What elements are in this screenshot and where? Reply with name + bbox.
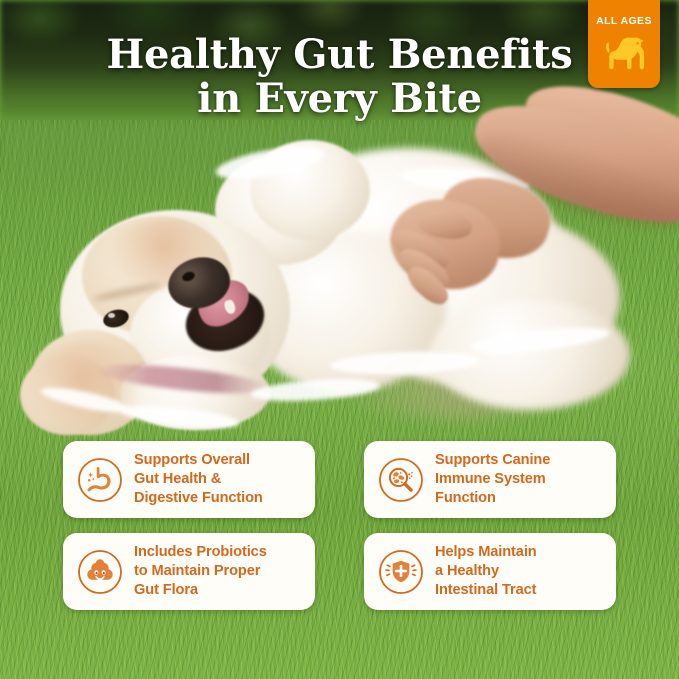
- benefits-grid: Supports Overall Gut Health & Digestive …: [63, 441, 616, 610]
- benefit-card-gut-health[interactable]: Supports Overall Gut Health & Digestive …: [63, 441, 315, 518]
- benefit-card-probiotics[interactable]: Includes Probiotics to Maintain Proper G…: [63, 533, 315, 610]
- benefit-line-1: Includes Probiotics: [134, 543, 267, 562]
- product-infographic: ALL AGES Healthy Gut Benefits in Every B…: [0, 0, 679, 679]
- benefit-card-text: Helps Maintain a Healthy Intestinal Trac…: [435, 543, 537, 600]
- benefit-line-3: Gut Flora: [134, 581, 267, 600]
- benefit-line-3: Function: [435, 489, 550, 508]
- benefit-card-intestinal-tract[interactable]: Helps Maintain a Healthy Intestinal Trac…: [364, 533, 616, 610]
- sitting-dog-icon: [601, 31, 647, 80]
- benefit-card-text: Includes Probiotics to Maintain Proper G…: [134, 543, 267, 600]
- benefit-line-1: Supports Overall: [134, 451, 263, 470]
- benefit-line-1: Supports Canine: [435, 451, 550, 470]
- all-ages-badge: ALL AGES: [588, 0, 660, 88]
- dog-eye-highlight: [108, 313, 115, 318]
- all-ages-badge-label: ALL AGES: [596, 16, 652, 27]
- benefit-line-3: Intestinal Tract: [435, 581, 537, 600]
- benefit-line-2: a Healthy: [435, 562, 537, 581]
- benefit-line-2: Immune System: [435, 470, 550, 489]
- benefit-card-text: Supports Canine Immune System Function: [435, 451, 550, 508]
- shield-plus-icon: [378, 549, 424, 595]
- benefit-line-2: to Maintain Proper: [134, 562, 267, 581]
- probiotic-poop-icon: [77, 549, 123, 595]
- benefit-line-2: Gut Health &: [134, 470, 263, 489]
- stomach-icon: [77, 457, 123, 503]
- benefit-card-immune-system[interactable]: Supports Canine Immune System Function: [364, 441, 616, 518]
- benefit-line-3: Digestive Function: [134, 489, 263, 508]
- benefit-line-1: Helps Maintain: [435, 543, 537, 562]
- benefit-card-text: Supports Overall Gut Health & Digestive …: [134, 451, 263, 508]
- magnifier-microbes-icon: [378, 457, 424, 503]
